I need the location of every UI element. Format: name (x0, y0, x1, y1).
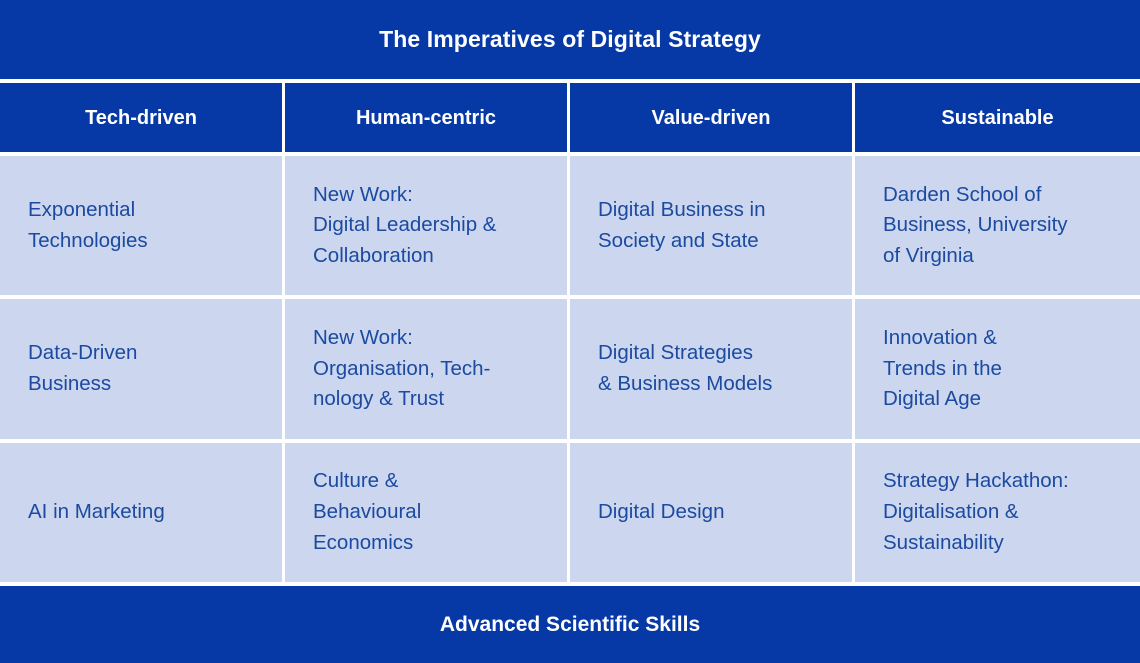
table-cell[interactable]: Data-Driven Business (0, 299, 282, 438)
table-cell-text: AI in Marketing (28, 497, 165, 528)
column-header-human-centric[interactable]: Human-centric (285, 83, 567, 152)
table-cell[interactable]: Darden School of Business, University of… (855, 156, 1140, 295)
table-cell[interactable]: Strategy Hackathon: Digitalisation & Sus… (855, 443, 1140, 582)
table-cell[interactable]: New Work: Organisation, Tech- nology & T… (285, 299, 567, 438)
column-header-tech-driven[interactable]: Tech-driven (0, 83, 282, 152)
table-cell-text: New Work: Organisation, Tech- nology & T… (313, 323, 490, 415)
table-cell[interactable]: New Work: Digital Leadership & Collabora… (285, 156, 567, 295)
table-cell-text: Exponential Technologies (28, 195, 148, 257)
matrix-footer-bar: Advanced Scientific Skills (0, 586, 1140, 663)
table-row: AI in Marketing Culture & Behavioural Ec… (0, 443, 1140, 582)
table-cell-text: Innovation & Trends in the Digital Age (883, 323, 1002, 415)
footer-label: Advanced Scientific Skills (440, 612, 700, 637)
table-cell[interactable]: Digital Business in Society and State (570, 156, 852, 295)
table-cell[interactable]: Digital Strategies & Business Models (570, 299, 852, 438)
table-cell-text: Darden School of Business, University of… (883, 180, 1068, 272)
table-row: Exponential Technologies New Work: Digit… (0, 156, 1140, 295)
table-cell-text: New Work: Digital Leadership & Collabora… (313, 180, 496, 272)
column-header-label: Sustainable (941, 106, 1053, 130)
matrix-title-bar: The Imperatives of Digital Strategy (0, 0, 1140, 79)
table-cell-text: Strategy Hackathon: Digitalisation & Sus… (883, 466, 1069, 558)
table-cell[interactable]: Exponential Technologies (0, 156, 282, 295)
table-cell-text: Data-Driven Business (28, 338, 137, 400)
digital-strategy-matrix: The Imperatives of Digital Strategy Tech… (0, 0, 1140, 663)
column-header-label: Value-driven (652, 106, 771, 130)
table-cell[interactable]: Culture & Behavioural Economics (285, 443, 567, 582)
table-cell[interactable]: Innovation & Trends in the Digital Age (855, 299, 1140, 438)
column-header-label: Human-centric (356, 106, 496, 130)
page-title: The Imperatives of Digital Strategy (379, 26, 761, 54)
column-header-sustainable[interactable]: Sustainable (855, 83, 1140, 152)
matrix-body: Exponential Technologies New Work: Digit… (0, 156, 1140, 582)
column-header-value-driven[interactable]: Value-driven (570, 83, 852, 152)
table-cell-text: Digital Business in Society and State (598, 195, 766, 257)
table-row: Data-Driven Business New Work: Organisat… (0, 299, 1140, 438)
table-cell-text: Culture & Behavioural Economics (313, 466, 421, 558)
table-cell-text: Digital Design (598, 497, 724, 528)
column-header-label: Tech-driven (85, 106, 197, 130)
table-cell[interactable]: Digital Design (570, 443, 852, 582)
column-header-row: Tech-driven Human-centric Value-driven S… (0, 83, 1140, 152)
table-cell[interactable]: AI in Marketing (0, 443, 282, 582)
table-cell-text: Digital Strategies & Business Models (598, 338, 772, 400)
